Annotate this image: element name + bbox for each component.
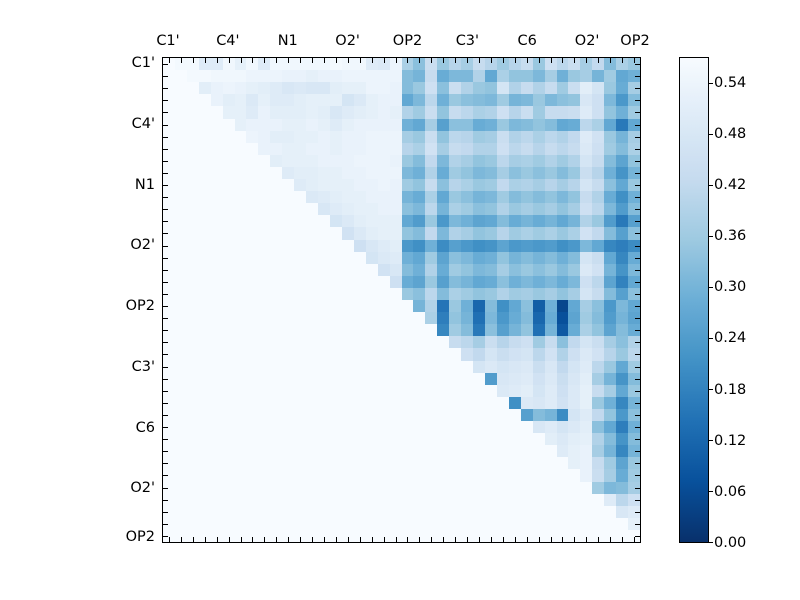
heatmap-cell <box>318 494 330 506</box>
heatmap-cell <box>258 143 270 155</box>
heatmap-cell <box>354 324 366 336</box>
heatmap-cell <box>461 336 473 348</box>
heatmap-cell <box>330 409 342 421</box>
heatmap-cell <box>187 457 199 469</box>
x-tick-mark <box>252 537 253 542</box>
heatmap-cell <box>306 506 318 518</box>
heatmap-cell <box>485 131 497 143</box>
heatmap-cell <box>306 324 318 336</box>
heatmap-cell <box>545 494 557 506</box>
heatmap-cell <box>521 155 533 167</box>
heatmap-cell <box>402 119 414 131</box>
heatmap-cell <box>378 300 390 312</box>
heatmap-cell <box>497 457 509 469</box>
heatmap-cell <box>497 94 509 106</box>
x-tick-mark <box>217 58 218 63</box>
heatmap-cell <box>557 494 569 506</box>
heatmap-cell <box>580 361 592 373</box>
heatmap-cell <box>413 312 425 324</box>
heatmap-cell <box>342 203 354 215</box>
heatmap-cell <box>568 119 580 131</box>
heatmap-cell <box>318 421 330 433</box>
heatmap-cell <box>449 119 461 131</box>
heatmap-cell <box>425 506 437 518</box>
heatmap-cell <box>306 336 318 348</box>
heatmap-cell <box>270 397 282 409</box>
heatmap-cell <box>342 324 354 336</box>
x-tick-mark <box>610 537 611 542</box>
heatmap-cell <box>592 518 604 530</box>
x-tick-mark <box>360 58 361 63</box>
heatmap-cell <box>616 288 628 300</box>
heatmap-cell <box>557 469 569 481</box>
heatmap-cell <box>616 203 628 215</box>
heatmap-cell <box>449 409 461 421</box>
y-tick-mark <box>163 100 168 101</box>
heatmap-cell <box>294 445 306 457</box>
heatmap-cell <box>402 348 414 360</box>
heatmap-cell <box>199 421 211 433</box>
heatmap-cell <box>318 373 330 385</box>
heatmap-cell <box>246 445 258 457</box>
heatmap-cell <box>437 348 449 360</box>
heatmap-cell <box>402 433 414 445</box>
heatmap-cell <box>199 397 211 409</box>
x-tick-mark <box>181 537 182 542</box>
heatmap-cell <box>390 324 402 336</box>
heatmap-cell <box>199 94 211 106</box>
heatmap-cell <box>366 409 378 421</box>
heatmap-cell <box>568 215 580 227</box>
heatmap-cell <box>509 276 521 288</box>
heatmap-cell <box>246 312 258 324</box>
heatmap-cell <box>557 336 569 348</box>
heatmap-cell <box>461 106 473 118</box>
heatmap-cell <box>306 143 318 155</box>
heatmap-cell <box>545 143 557 155</box>
y-tick-mark <box>163 354 168 355</box>
heatmap-cell <box>390 397 402 409</box>
colorbar-tick-mark <box>708 134 713 135</box>
heatmap-axes[interactable] <box>162 57 641 543</box>
heatmap-cell <box>342 421 354 433</box>
x-tick-mark <box>634 58 635 63</box>
heatmap-cell <box>330 131 342 143</box>
x-tick-label: OP2 <box>393 33 422 49</box>
heatmap-cell <box>282 191 294 203</box>
y-tick-label: O2' <box>130 480 155 496</box>
heatmap-cell <box>509 445 521 457</box>
heatmap-cell <box>330 82 342 94</box>
heatmap-cell <box>294 264 306 276</box>
heatmap-cell <box>437 482 449 494</box>
heatmap-cell <box>449 227 461 239</box>
heatmap-cell <box>473 191 485 203</box>
x-tick-mark <box>467 58 468 63</box>
heatmap-cell <box>211 312 223 324</box>
heatmap-cell <box>306 361 318 373</box>
heatmap-cell <box>306 106 318 118</box>
heatmap-cell <box>318 397 330 409</box>
heatmap-cell <box>437 324 449 336</box>
heatmap-cell <box>437 373 449 385</box>
heatmap-cell <box>235 119 247 131</box>
heatmap-cell <box>449 518 461 530</box>
heatmap-cell <box>211 94 223 106</box>
heatmap-cell <box>187 433 199 445</box>
heatmap-cell <box>246 373 258 385</box>
heatmap-cell <box>461 348 473 360</box>
heatmap-cell <box>497 143 509 155</box>
heatmap-cell <box>175 312 187 324</box>
heatmap-cell <box>318 385 330 397</box>
heatmap-cell <box>270 191 282 203</box>
heatmap-cell <box>318 445 330 457</box>
heatmap-cell <box>306 119 318 131</box>
heatmap-cell <box>330 457 342 469</box>
heatmap-cell <box>378 361 390 373</box>
heatmap-cell <box>306 82 318 94</box>
x-tick-mark <box>205 58 206 63</box>
heatmap-cell <box>378 167 390 179</box>
heatmap-cell <box>294 143 306 155</box>
heatmap-cell <box>223 482 235 494</box>
heatmap-cell <box>604 167 616 179</box>
heatmap-cell <box>246 82 258 94</box>
heatmap-cell <box>235 409 247 421</box>
heatmap-cell <box>378 106 390 118</box>
heatmap-cell <box>497 264 509 276</box>
y-tick-mark <box>635 233 640 234</box>
heatmap-cell <box>330 348 342 360</box>
heatmap-cell <box>545 300 557 312</box>
heatmap-cell <box>187 373 199 385</box>
heatmap-cell <box>306 312 318 324</box>
heatmap-cell <box>580 385 592 397</box>
heatmap-cell <box>402 421 414 433</box>
heatmap-cell <box>473 119 485 131</box>
heatmap-cell <box>306 215 318 227</box>
heatmap-cell <box>437 240 449 252</box>
heatmap-cell <box>354 506 366 518</box>
heatmap-cell <box>402 179 414 191</box>
heatmap-cell <box>545 457 557 469</box>
heatmap-cell <box>366 155 378 167</box>
heatmap-cell <box>437 385 449 397</box>
heatmap-cell <box>342 385 354 397</box>
heatmap-cell <box>223 469 235 481</box>
heatmap-cell <box>568 94 580 106</box>
heatmap-cell <box>473 143 485 155</box>
heatmap-cell <box>294 119 306 131</box>
heatmap-cell <box>223 409 235 421</box>
heatmap-cell <box>616 155 628 167</box>
heatmap-cell <box>270 482 282 494</box>
heatmap-cell <box>592 397 604 409</box>
heatmap-cell <box>580 70 592 82</box>
heatmap-cell <box>497 252 509 264</box>
y-tick-mark <box>163 209 168 210</box>
heatmap-cell <box>282 167 294 179</box>
heatmap-grid <box>163 58 640 542</box>
heatmap-cell <box>294 215 306 227</box>
heatmap-cell <box>306 252 318 264</box>
heatmap-cell <box>258 119 270 131</box>
heatmap-cell <box>545 276 557 288</box>
heatmap-cell <box>616 433 628 445</box>
y-tick-mark <box>635 354 640 355</box>
heatmap-cell <box>175 106 187 118</box>
heatmap-cell <box>378 215 390 227</box>
heatmap-cell <box>378 324 390 336</box>
heatmap-cell <box>616 469 628 481</box>
heatmap-cell <box>568 179 580 191</box>
colorbar[interactable] <box>679 57 709 543</box>
x-tick-mark <box>551 58 552 63</box>
heatmap-cell <box>235 240 247 252</box>
y-tick-mark <box>635 379 640 380</box>
heatmap-cell <box>342 482 354 494</box>
heatmap-cell <box>378 203 390 215</box>
heatmap-cell <box>282 336 294 348</box>
heatmap-cell <box>473 215 485 227</box>
heatmap-cell <box>509 167 521 179</box>
y-tick-label: O2' <box>130 237 155 253</box>
heatmap-cell <box>342 155 354 167</box>
heatmap-cell <box>211 82 223 94</box>
heatmap-cell <box>509 385 521 397</box>
y-tick-mark <box>163 500 168 501</box>
heatmap-cell <box>533 82 545 94</box>
heatmap-cell <box>461 94 473 106</box>
x-tick-mark <box>431 537 432 542</box>
heatmap-cell <box>413 494 425 506</box>
heatmap-cell <box>366 506 378 518</box>
heatmap-cell <box>175 421 187 433</box>
heatmap-cell <box>425 155 437 167</box>
heatmap-cell <box>258 373 270 385</box>
y-tick-mark <box>635 149 640 150</box>
heatmap-cell <box>199 167 211 179</box>
heatmap-cell <box>568 252 580 264</box>
heatmap-cell <box>246 494 258 506</box>
heatmap-cell <box>604 494 616 506</box>
heatmap-cell <box>592 336 604 348</box>
heatmap-cell <box>270 155 282 167</box>
heatmap-cell <box>378 469 390 481</box>
heatmap-cell <box>592 252 604 264</box>
heatmap-cell <box>330 518 342 530</box>
heatmap-cell <box>497 445 509 457</box>
heatmap-cell <box>306 373 318 385</box>
heatmap-cell <box>318 324 330 336</box>
heatmap-cell <box>497 421 509 433</box>
heatmap-cell <box>354 385 366 397</box>
heatmap-cell <box>497 276 509 288</box>
heatmap-cell <box>223 167 235 179</box>
heatmap-cell <box>509 227 521 239</box>
heatmap-cell <box>533 300 545 312</box>
heatmap-cell <box>437 82 449 94</box>
heatmap-cell <box>402 240 414 252</box>
heatmap-cell <box>616 336 628 348</box>
heatmap-cell <box>342 94 354 106</box>
heatmap-cell <box>485 288 497 300</box>
heatmap-cell <box>390 240 402 252</box>
heatmap-cell <box>402 252 414 264</box>
heatmap-cell <box>533 324 545 336</box>
heatmap-cell <box>425 361 437 373</box>
y-tick-mark <box>163 270 168 271</box>
heatmap-cell <box>604 70 616 82</box>
heatmap-cell <box>592 276 604 288</box>
heatmap-cell <box>592 457 604 469</box>
heatmap-cell <box>568 421 580 433</box>
y-tick-mark <box>635 342 640 343</box>
heatmap-cell <box>211 143 223 155</box>
heatmap-cell <box>258 494 270 506</box>
heatmap-cell <box>175 494 187 506</box>
heatmap-cell <box>509 361 521 373</box>
heatmap-cell <box>557 143 569 155</box>
heatmap-cell <box>604 264 616 276</box>
heatmap-cell <box>509 373 521 385</box>
heatmap-cell <box>485 106 497 118</box>
heatmap-cell <box>270 94 282 106</box>
heatmap-cell <box>461 361 473 373</box>
heatmap-cell <box>366 300 378 312</box>
heatmap-cell <box>306 457 318 469</box>
heatmap-cell <box>211 348 223 360</box>
heatmap-cell <box>199 70 211 82</box>
heatmap-cell <box>425 215 437 227</box>
heatmap-cell <box>521 482 533 494</box>
heatmap-cell <box>604 252 616 264</box>
heatmap-cell <box>568 167 580 179</box>
heatmap-cell <box>175 518 187 530</box>
heatmap-cell <box>330 361 342 373</box>
heatmap-cell <box>294 131 306 143</box>
heatmap-cell <box>557 106 569 118</box>
heatmap-cell <box>413 240 425 252</box>
heatmap-cell <box>533 131 545 143</box>
heatmap-cell <box>497 203 509 215</box>
heatmap-cell <box>521 300 533 312</box>
heatmap-cell <box>437 264 449 276</box>
x-tick-label: N1 <box>278 33 298 49</box>
heatmap-cell <box>366 70 378 82</box>
y-tick-mark <box>635 403 640 404</box>
heatmap-cell <box>187 131 199 143</box>
x-tick-mark <box>551 537 552 542</box>
heatmap-cell <box>342 506 354 518</box>
heatmap-cell <box>545 397 557 409</box>
heatmap-cell <box>354 312 366 324</box>
y-tick-mark <box>635 270 640 271</box>
x-tick-mark <box>634 537 635 542</box>
heatmap-cell <box>235 215 247 227</box>
heatmap-cell <box>330 312 342 324</box>
heatmap-cell <box>592 409 604 421</box>
heatmap-cell <box>282 264 294 276</box>
heatmap-cell <box>223 155 235 167</box>
heatmap-cell <box>402 82 414 94</box>
heatmap-cell <box>521 131 533 143</box>
heatmap-cell <box>437 94 449 106</box>
heatmap-cell <box>282 518 294 530</box>
heatmap-cell <box>473 312 485 324</box>
heatmap-cell <box>175 397 187 409</box>
heatmap-cell <box>223 348 235 360</box>
heatmap-cell <box>366 361 378 373</box>
heatmap-cell <box>497 336 509 348</box>
heatmap-cell <box>461 167 473 179</box>
heatmap-cell <box>473 227 485 239</box>
heatmap-cell <box>521 191 533 203</box>
heatmap-cell <box>306 397 318 409</box>
heatmap-cell <box>318 469 330 481</box>
heatmap-cell <box>270 215 282 227</box>
x-tick-mark <box>419 58 420 63</box>
heatmap-cell <box>306 179 318 191</box>
heatmap-cell <box>199 131 211 143</box>
heatmap-cell <box>235 361 247 373</box>
heatmap-cell <box>580 167 592 179</box>
heatmap-cell <box>175 482 187 494</box>
heatmap-cell <box>187 203 199 215</box>
heatmap-cell <box>568 336 580 348</box>
heatmap-cell <box>342 131 354 143</box>
heatmap-cell <box>545 191 557 203</box>
heatmap-cell <box>604 312 616 324</box>
heatmap-cell <box>580 312 592 324</box>
heatmap-cell <box>533 469 545 481</box>
heatmap-cell <box>199 191 211 203</box>
heatmap-cell <box>402 143 414 155</box>
heatmap-cell <box>199 240 211 252</box>
heatmap-cell <box>557 167 569 179</box>
heatmap-cell <box>402 482 414 494</box>
heatmap-cell <box>425 433 437 445</box>
heatmap-cell <box>497 361 509 373</box>
heatmap-cell <box>390 361 402 373</box>
heatmap-cell <box>580 131 592 143</box>
heatmap-cell <box>258 457 270 469</box>
heatmap-cell <box>521 227 533 239</box>
heatmap-cell <box>616 494 628 506</box>
heatmap-cell <box>545 94 557 106</box>
heatmap-cell <box>318 348 330 360</box>
heatmap-cell <box>258 252 270 264</box>
heatmap-cell <box>461 518 473 530</box>
x-tick-label: C4' <box>216 33 239 49</box>
y-tick-mark <box>635 112 640 113</box>
heatmap-cell <box>354 445 366 457</box>
heatmap-cell <box>413 167 425 179</box>
heatmap-cell <box>580 227 592 239</box>
heatmap-cell <box>485 94 497 106</box>
heatmap-cell <box>390 409 402 421</box>
heatmap-cell <box>354 179 366 191</box>
heatmap-cell <box>211 469 223 481</box>
heatmap-cell <box>199 288 211 300</box>
heatmap-cell <box>461 252 473 264</box>
heatmap-cell <box>580 457 592 469</box>
heatmap-cell <box>223 252 235 264</box>
heatmap-cell <box>521 409 533 421</box>
heatmap-cell <box>545 179 557 191</box>
heatmap-cell <box>473 494 485 506</box>
